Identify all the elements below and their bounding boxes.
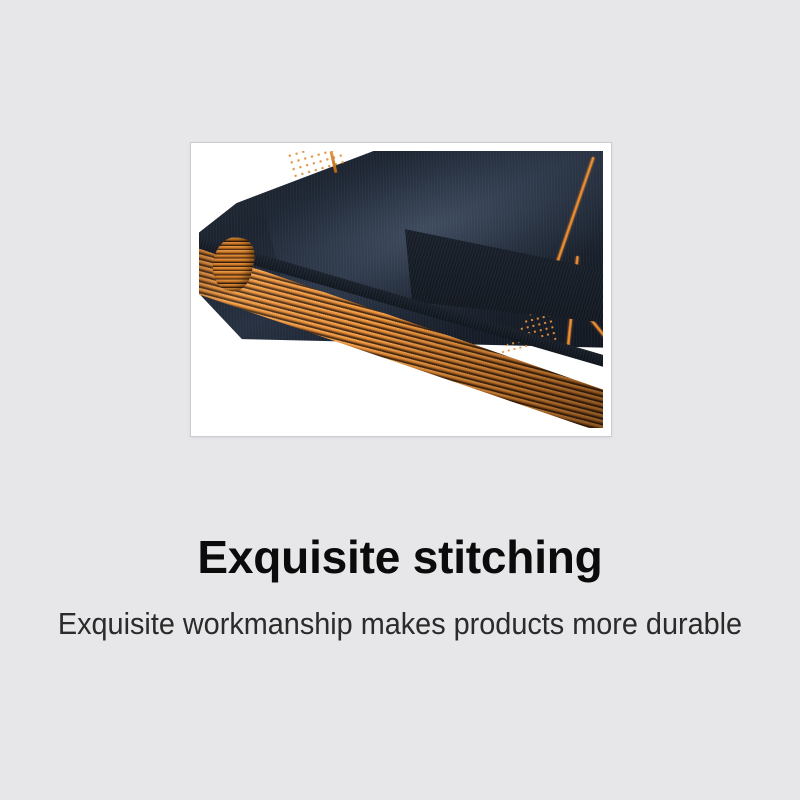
product-feature-banner: Exquisite stitching Exquisite workmanshi… [0, 0, 800, 800]
feature-title: Exquisite stitching [0, 531, 800, 584]
feature-subtitle: Exquisite workmanship makes products mor… [28, 605, 772, 642]
product-photo-frame [190, 142, 612, 437]
product-photo [199, 151, 603, 428]
